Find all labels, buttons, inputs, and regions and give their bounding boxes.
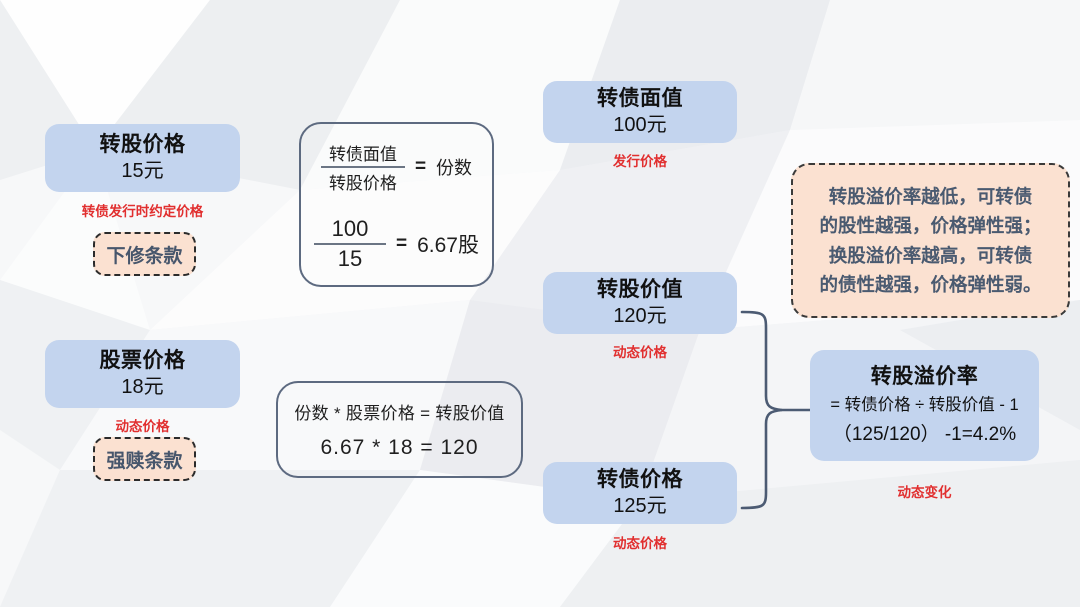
fraction-numerator: 转债面值 — [323, 139, 403, 166]
card-title: 股票价格 — [100, 349, 186, 373]
note-line: 的股性越强，价格弹性强； — [819, 211, 1041, 240]
card-title: 转债面值 — [597, 87, 683, 111]
note-line: 转股溢价率越低，可转债 — [829, 182, 1033, 211]
fraction-result: 份数 — [436, 154, 472, 180]
card-bond-price[interactable]: 转债价格 125元 — [543, 462, 737, 524]
equals-sign: = — [415, 156, 426, 178]
chip-downward-revision[interactable]: 下修条款 — [93, 232, 196, 276]
caption-bond-price: 动态价格 — [543, 532, 737, 552]
formula-numeric: 6.67 * 18 = 120 — [320, 436, 478, 460]
fraction-symbolic: 转债面值 转股价格 — [321, 139, 405, 195]
chip-forced-redemption[interactable]: 强赎条款 — [93, 437, 196, 481]
fraction-numerator: 100 — [326, 215, 375, 243]
card-conversion-price[interactable]: 转股价格 15元 — [45, 124, 240, 192]
card-conversion-premium-rate[interactable]: 转股溢价率 = 转债价格 ÷ 转股价值 - 1 （125/120） -1=4.2… — [810, 350, 1039, 461]
card-value: 125元 — [613, 494, 666, 518]
note-line: 换股溢价率越高，可转债 — [829, 241, 1033, 270]
note-line: 的债性越强，价格弹性弱。 — [819, 270, 1041, 299]
fraction-numeric: 100 15 — [314, 215, 386, 273]
fraction-denominator: 15 — [332, 245, 368, 273]
card-title: 转债价格 — [597, 468, 683, 492]
premium-numeric: （125/120） -1=4.2% — [833, 419, 1016, 446]
caption-conversion-premium-rate: 动态变化 — [810, 481, 1039, 501]
formula-box-conversion-value: 份数 * 股票价格 = 转股价值 6.67 * 18 = 120 — [276, 381, 523, 478]
formula-expression: 份数 * 股票价格 = 转股价值 — [294, 399, 504, 424]
note-premium-explanation: 转股溢价率越低，可转债 的股性越强，价格弹性强； 换股溢价率越高，可转债 的债性… — [791, 163, 1070, 318]
card-title: 转股溢价率 — [871, 365, 979, 389]
card-value: 120元 — [613, 304, 666, 328]
diagram-canvas: 转股价格 15元 转债发行时约定价格 下修条款 股票价格 18元 动态价格 强赎… — [0, 0, 1080, 607]
card-stock-price[interactable]: 股票价格 18元 — [45, 340, 240, 408]
equals-sign: = — [396, 233, 407, 255]
card-value: 100元 — [613, 113, 666, 137]
card-value: 18元 — [121, 375, 163, 399]
formula-box-shares: 转债面值 转股价格 = 份数 100 15 = 6.67股 — [299, 122, 494, 287]
fraction-denominator: 转股价格 — [323, 168, 403, 195]
card-value: 15元 — [121, 159, 163, 183]
card-bond-face-value[interactable]: 转债面值 100元 — [543, 81, 737, 143]
card-title: 转股价格 — [100, 133, 186, 157]
premium-formula: = 转债价格 ÷ 转股价值 - 1 — [830, 396, 1018, 416]
fraction-numeric-result: 6.67股 — [417, 229, 479, 259]
caption-conversion-value: 动态价格 — [543, 341, 737, 361]
card-title: 转股价值 — [597, 278, 683, 302]
caption-stock-price: 动态价格 — [45, 415, 240, 435]
caption-conversion-price: 转债发行时约定价格 — [45, 200, 240, 220]
card-conversion-value[interactable]: 转股价值 120元 — [543, 272, 737, 334]
caption-bond-face-value: 发行价格 — [543, 150, 737, 170]
